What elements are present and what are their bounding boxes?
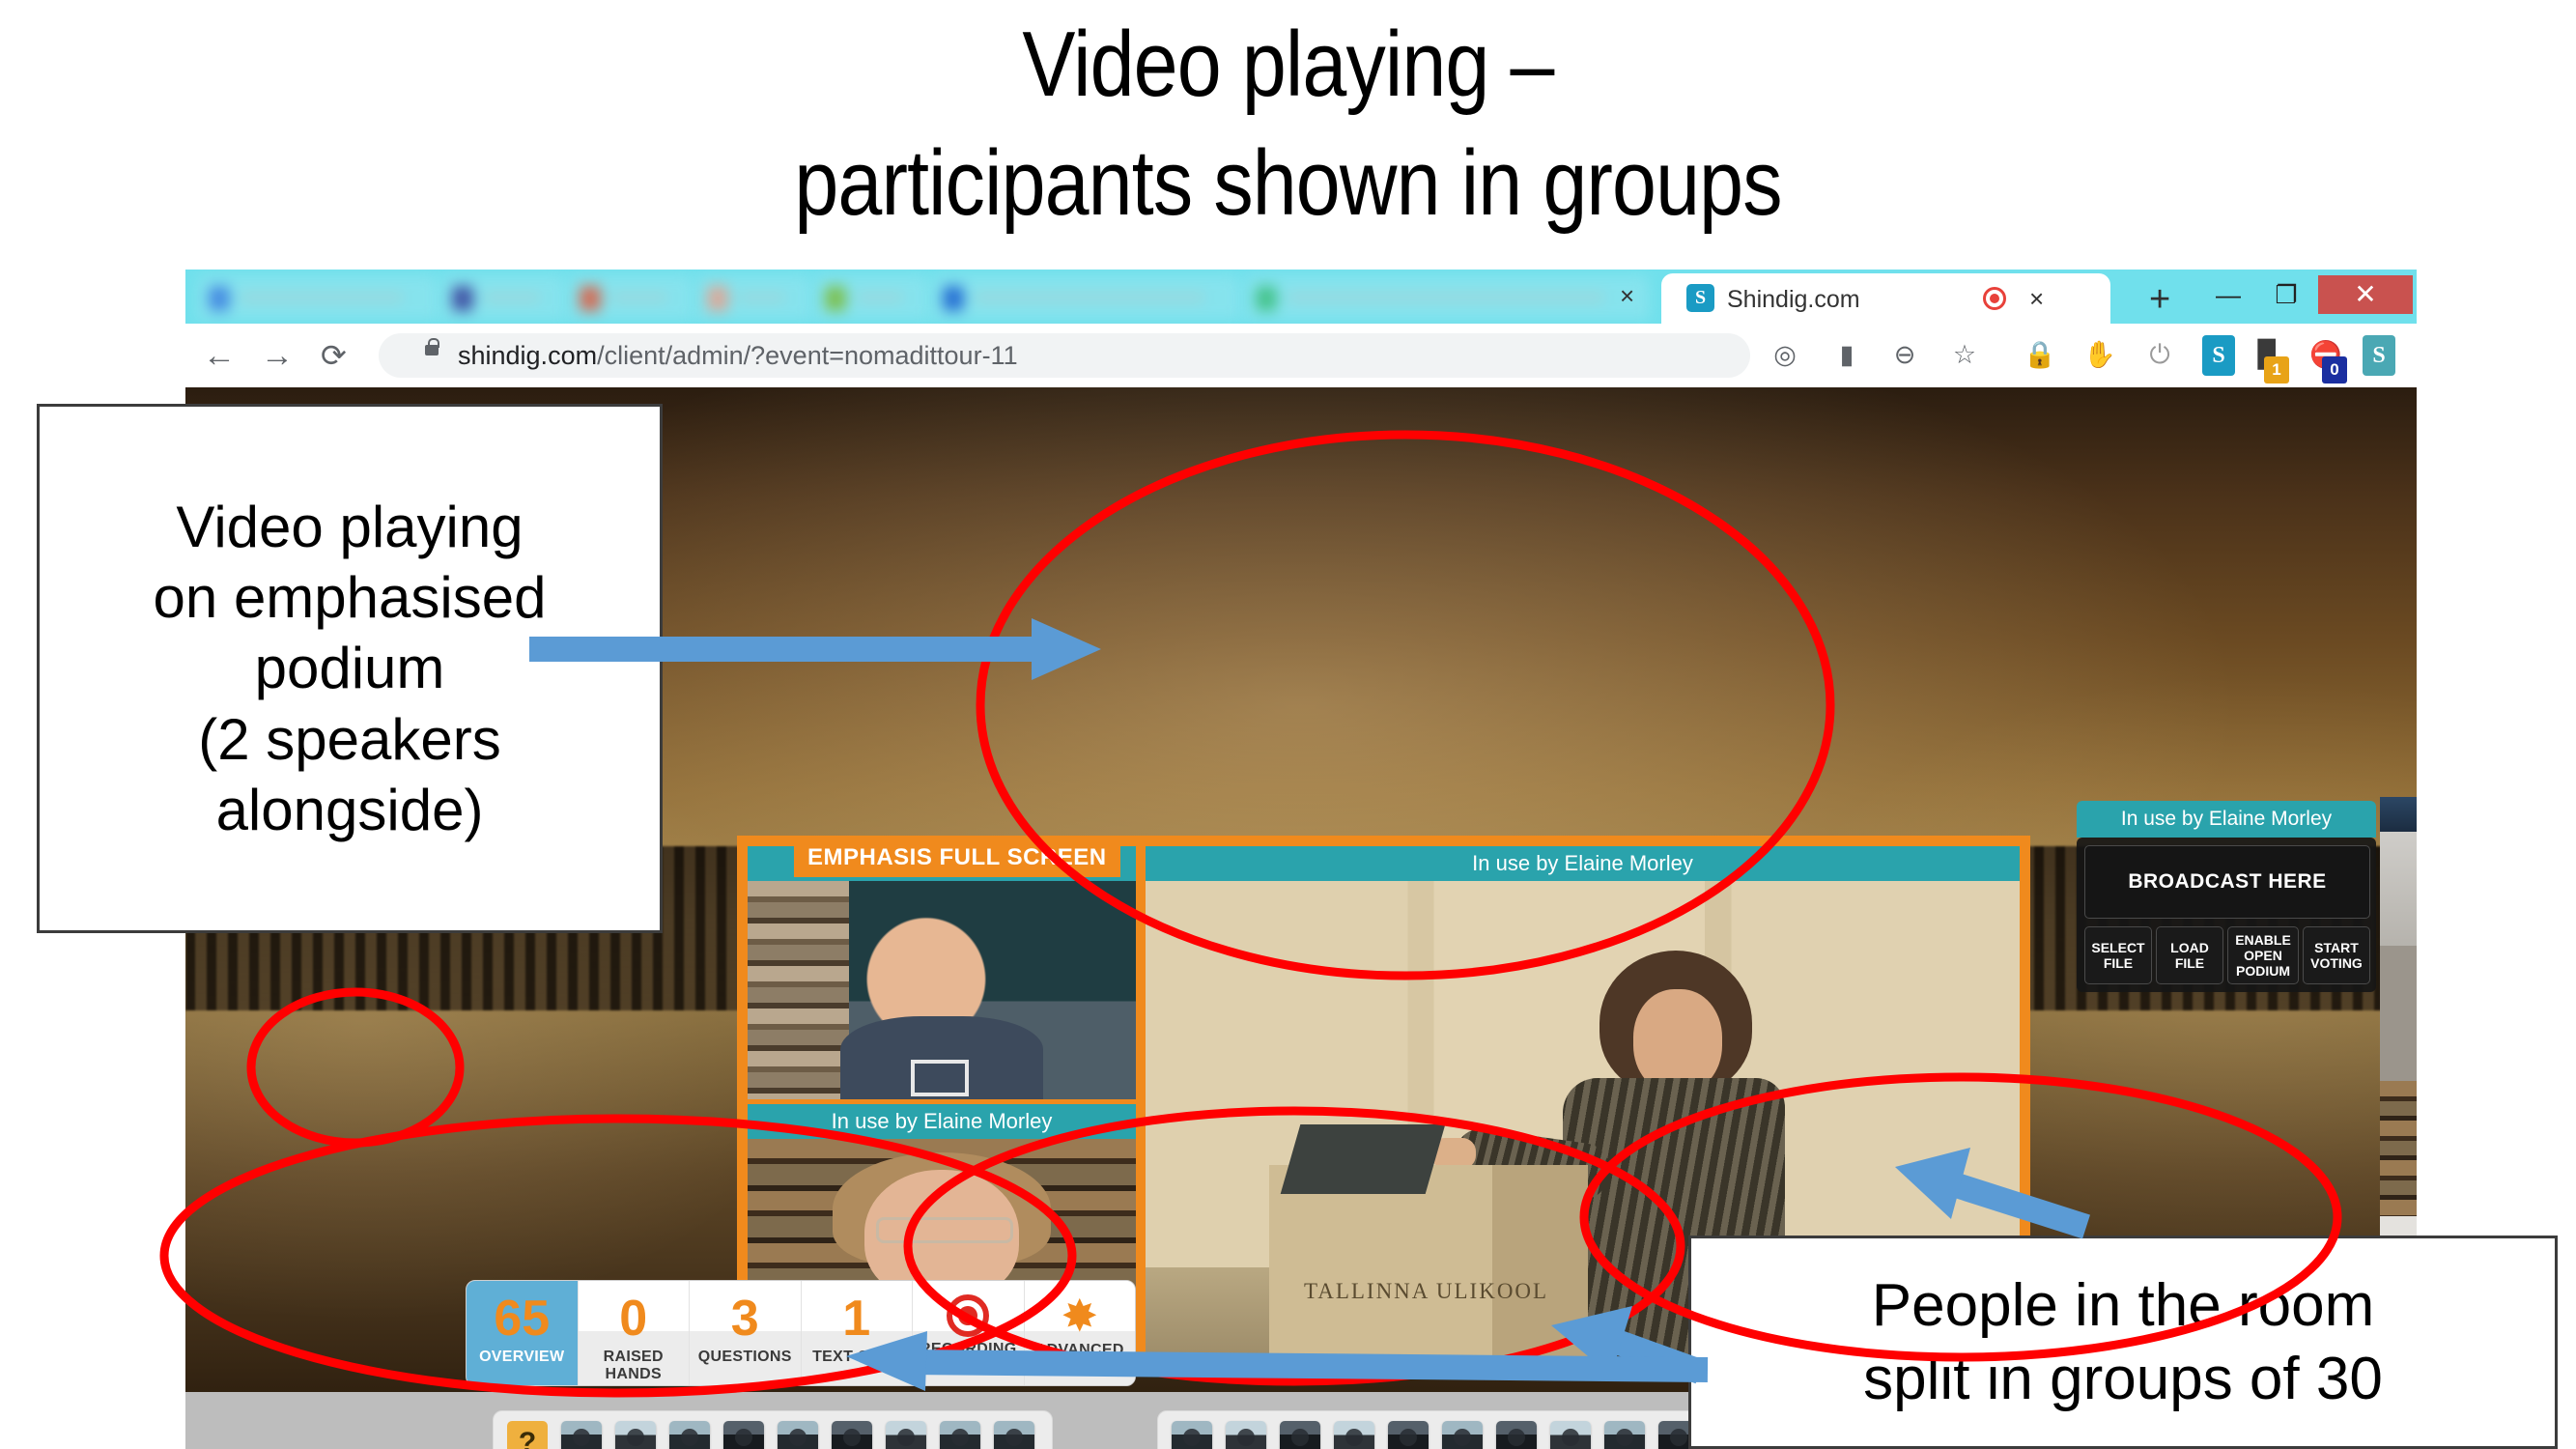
text-chat-count: 1 (802, 1289, 913, 1349)
broadcast-panel-label: In use by Elaine Morley (2077, 801, 2376, 838)
overview-label: OVERVIEW (467, 1349, 578, 1366)
start-voting-button[interactable]: START VOTING (2303, 926, 2370, 984)
admin-video-3[interactable] (2380, 1081, 2417, 1216)
load-file-button[interactable]: LOAD FILE (2156, 926, 2223, 984)
speaker-2-label: In use by Elaine Morley (748, 1104, 1136, 1139)
close-icon[interactable]: × (2029, 284, 2044, 314)
tab-title-blurred (240, 292, 404, 303)
stat-overview[interactable]: 65 OVERVIEW (467, 1281, 579, 1385)
broadcast-control-panel: In use by Elaine Morley BROADCAST HERE S… (2077, 838, 2376, 992)
questions-label: QUESTIONS (690, 1349, 801, 1366)
background-tab[interactable] (568, 275, 694, 320)
participant-tile[interactable] (561, 1421, 602, 1449)
tab-recording-dot-icon (1983, 287, 2006, 310)
stats-bar: 65 OVERVIEW 0 RAISED HANDS 3 QUESTIONS 1… (466, 1280, 1136, 1386)
recording-on-label: RECORDING ON (913, 1341, 1024, 1376)
forward-icon[interactable]: → (261, 337, 294, 375)
tab-title-blurred (974, 292, 1205, 303)
blocker-extension-icon[interactable]: ⛔ 0 (2307, 335, 2345, 374)
tab-favicon (452, 286, 473, 311)
background-tab[interactable] (695, 275, 811, 320)
tab-favicon (580, 286, 601, 311)
participant-tile[interactable] (1172, 1421, 1212, 1449)
participant-tile[interactable] (994, 1421, 1034, 1449)
background-tab[interactable] (931, 275, 1240, 320)
select-file-button[interactable]: SELECT FILE (2084, 926, 2152, 984)
participant-tile[interactable] (723, 1421, 764, 1449)
background-tab[interactable] (1244, 275, 1650, 320)
bookmark-star-icon[interactable]: ☆ (1945, 335, 1984, 374)
participant-tile[interactable] (1442, 1421, 1483, 1449)
page-title: Video playing – participants shown in gr… (181, 6, 2396, 243)
questions-count: 3 (690, 1289, 801, 1349)
url-path: /client/admin/?event=nomadittour-11 (597, 341, 1018, 370)
participant-tile[interactable] (1334, 1421, 1374, 1449)
speaker-1-video (748, 881, 1136, 1099)
zoom-out-icon[interactable]: ⊖ (1885, 335, 1924, 374)
shindig-extension-icon[interactable]: S (2202, 335, 2235, 376)
back-icon[interactable]: ← (203, 337, 236, 375)
text-chat-label: TEXT CHAT (802, 1349, 913, 1366)
participant-tile-grid (1172, 1421, 1759, 1449)
background-tab[interactable] (813, 275, 929, 320)
lock-extension-icon[interactable]: 🔒 (2021, 335, 2059, 374)
tab-title-blurred (856, 292, 904, 303)
participant-tile-grid: ? ? ? (507, 1421, 1040, 1449)
tab-favicon (1256, 286, 1277, 311)
admin-video-2[interactable] (2380, 946, 2417, 1081)
browser-toolbar: ← → ⟳ shindig.com/client/admin/?event=no… (185, 324, 2417, 387)
participant-tile[interactable] (1496, 1421, 1537, 1449)
participant-tile[interactable] (1280, 1421, 1320, 1449)
shindig-teal-extension-icon-2[interactable]: S (2363, 335, 2395, 376)
tab-favicon (707, 286, 728, 311)
flash-blocked-icon[interactable]: ◎ (1766, 335, 1804, 374)
camera-icon[interactable]: ▮ (1827, 335, 1866, 374)
enable-open-podium-button[interactable]: ENABLE OPEN PODIUM (2227, 926, 2299, 984)
tab-title-blurred (610, 292, 668, 303)
new-tab-button[interactable]: + (2149, 279, 2170, 321)
background-tab[interactable] (440, 275, 566, 320)
participant-tile[interactable] (669, 1421, 710, 1449)
participant-tile[interactable] (1226, 1421, 1266, 1449)
active-tab-title: Shindig.com (1727, 286, 1860, 314)
stat-text-chat[interactable]: 1 TEXT CHAT (802, 1281, 914, 1385)
tab-favicon (943, 286, 964, 311)
raised-hands-label: RAISED HANDS (579, 1349, 690, 1383)
tab-close-icon[interactable]: × (1620, 281, 1634, 311)
participant-tile[interactable] (1604, 1421, 1645, 1449)
power-extension-icon[interactable]: ⏻ (2140, 335, 2179, 374)
tab-title-blurred (483, 292, 541, 303)
participant-tile[interactable] (615, 1421, 656, 1449)
active-tab-shindig[interactable]: S Shindig.com × (1661, 273, 2110, 324)
stop-hand-extension-icon[interactable]: ✋ (2081, 335, 2119, 374)
admin-video-1[interactable] (2380, 832, 2417, 946)
participant-tile[interactable] (940, 1421, 980, 1449)
window-maximize-button[interactable]: ❐ (2262, 275, 2310, 314)
lock-icon (425, 345, 439, 355)
participant-tile[interactable] (1550, 1421, 1591, 1449)
shindig-favicon-icon: S (1686, 284, 1714, 312)
badger-extension-icon[interactable]: ▉ 1 (2249, 335, 2287, 374)
bookshelf-background (748, 881, 849, 1099)
tab-favicon (825, 286, 846, 311)
reload-icon[interactable]: ⟳ (321, 337, 347, 374)
annotation-callout-right: People in the room split in groups of 30 (1688, 1236, 2558, 1449)
tab-title-blurred (1287, 292, 1605, 303)
address-bar-url: shindig.com/client/admin/?event=nomaditt… (458, 341, 1018, 371)
url-domain: shindig.com (458, 341, 597, 370)
lectern-logo: TALLINNA ULIKOOL (1304, 1279, 1548, 1304)
advanced-label: ADVANCED (1025, 1342, 1136, 1359)
tab-favicon (209, 286, 230, 311)
laptop (1281, 1124, 1446, 1194)
background-tab[interactable] (197, 275, 439, 320)
tab-title-blurred (738, 292, 786, 303)
participant-group-2 (1157, 1410, 1769, 1449)
participant-tile[interactable] (1388, 1421, 1429, 1449)
admin-column-header: Admin (2380, 797, 2417, 832)
browser-tab-strip: × S Shindig.com × + — ❐ ✕ (185, 270, 2417, 324)
speaker-2-glasses (876, 1217, 1014, 1242)
participant-tile[interactable] (886, 1421, 926, 1449)
record-icon (947, 1294, 989, 1337)
stat-questions[interactable]: 3 QUESTIONS (690, 1281, 802, 1385)
emphasis-full-screen-badge: EMPHASIS FULL SCREEN (794, 838, 1120, 877)
stat-raised-hands[interactable]: 0 RAISED HANDS (579, 1281, 691, 1385)
participant-tile[interactable] (832, 1421, 872, 1449)
speaker-tile-1[interactable]: In use by Elaine Morley (748, 846, 1136, 1099)
gear-icon: ✸ (1058, 1293, 1102, 1338)
window-minimize-button[interactable]: — (2204, 275, 2252, 314)
address-bar[interactable]: shindig.com/client/admin/?event=nomaditt… (379, 333, 1750, 378)
participant-tile-unknown[interactable]: ? (507, 1421, 548, 1449)
blocker-badge-count: 0 (2322, 356, 2347, 384)
participant-group-1: ? ? ? (493, 1410, 1053, 1449)
stat-advanced[interactable]: ✸ ADVANCED (1025, 1281, 1136, 1385)
participant-tile[interactable] (778, 1421, 818, 1449)
broadcast-here-button[interactable]: BROADCAST HERE (2084, 845, 2370, 919)
annotation-callout-left: Video playing on emphasised podium (2 sp… (37, 404, 663, 933)
speaker-1-shirt-logo (911, 1060, 969, 1096)
window-close-button[interactable]: ✕ (2318, 275, 2413, 314)
raised-hands-count: 0 (579, 1289, 690, 1349)
overview-count: 65 (467, 1289, 578, 1349)
badger-badge-count: 1 (2264, 356, 2289, 384)
podium-label: In use by Elaine Morley (1146, 846, 2020, 881)
stat-recording-on[interactable]: RECORDING ON (913, 1281, 1025, 1385)
